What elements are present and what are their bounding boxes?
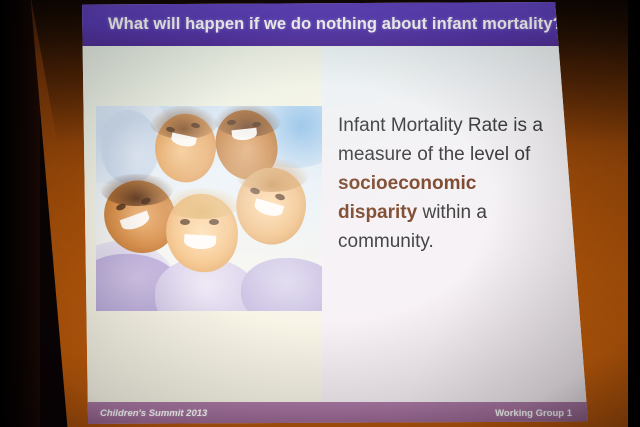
child-hair-top-left: [150, 106, 218, 139]
footer-event-name: Children's Summit 2013: [100, 408, 207, 419]
child-hair-left: [101, 174, 173, 207]
children-photo: [96, 106, 322, 311]
child-eye-center-a: [180, 219, 190, 225]
right-content-panel: Infant Mortality Rate is a measure of th…: [322, 46, 588, 402]
slide-content-row: Infant Mortality Rate is a measure of th…: [82, 46, 588, 402]
footer-group-name: Working Group 1: [495, 408, 572, 419]
slide-footer-bar: Children's Summit 2013 Working Group 1: [82, 402, 588, 424]
child-eye-center-b: [209, 219, 219, 225]
body-line-1: Infant Mortality Rate is: [338, 115, 527, 136]
child-hair-center: [164, 188, 241, 219]
body-accent-disparity: disparity: [338, 202, 417, 223]
children-photo-inner: [96, 106, 322, 311]
slide-title-bar: What will happen if we do nothing about …: [82, 2, 588, 46]
slide-wrapper: What will happen if we do nothing about …: [0, 0, 640, 427]
body-line-4-suffix: within a: [417, 202, 487, 223]
presentation-slide: What will happen if we do nothing about …: [82, 2, 588, 424]
projected-slide-photo: What will happen if we do nothing about …: [0, 0, 640, 427]
slide-title: What will happen if we do nothing about …: [108, 15, 563, 34]
left-content-panel: [82, 46, 322, 402]
body-accent-socioeconomic: socioeconomic: [338, 173, 476, 194]
body-line-3-prefix: of: [514, 144, 530, 165]
body-line-5: community.: [338, 231, 434, 252]
child-clothing-bottom-right: [241, 258, 322, 311]
slide-body-text: Infant Mortality Rate is a measure of th…: [338, 112, 554, 256]
slide-body: What will happen if we do nothing about …: [82, 2, 588, 424]
